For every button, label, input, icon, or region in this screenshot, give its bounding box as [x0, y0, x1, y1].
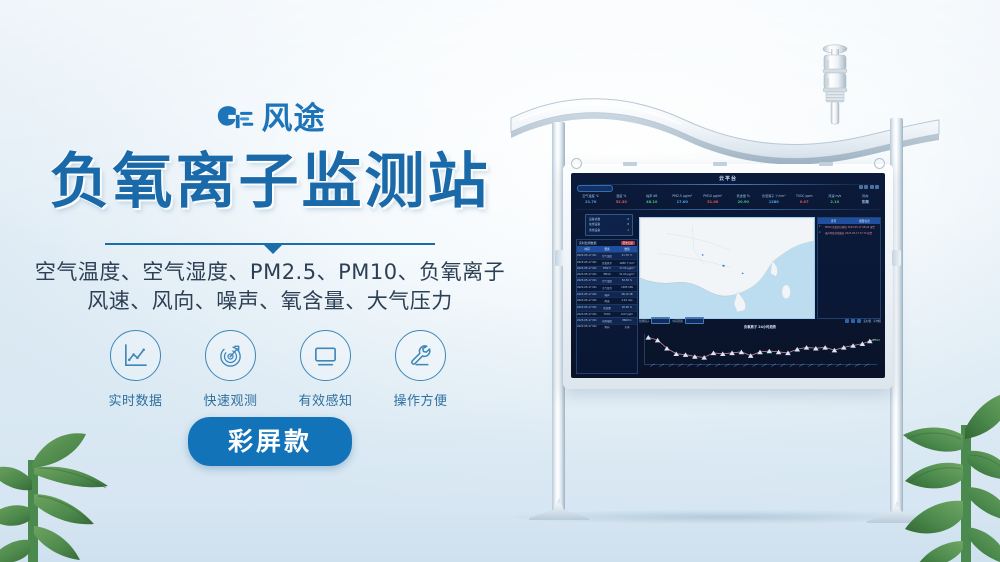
feature-label: 快速观测 [200, 390, 262, 409]
alarm-row[interactable]: 2 噪声等级持续偏高 2023-05-17 07:15 报警 [818, 230, 880, 236]
cell-value: 东南 [617, 325, 637, 331]
cell-value: 0.07 ppm [617, 312, 637, 317]
cell-factor: 大气压力 [597, 285, 617, 291]
brand-name: 风途 [262, 104, 326, 135]
cell-value: 52.30 % [617, 278, 637, 284]
alarm-message: 噪声等级持续偏高 [825, 231, 844, 235]
table-row[interactable]: 2023-05-17 09:30 负氧离子 1280 个/cm³ [577, 259, 637, 266]
cell-factor: 空气温度 [597, 253, 617, 259]
chart-refresh-button[interactable] [851, 319, 855, 323]
metric-card: 负氧离子 个/cm³ 1280 [759, 193, 789, 208]
dashboard-title: 云平台 [571, 175, 885, 182]
cell-factor: 负氧离子 [597, 260, 617, 266]
feature-item-effective-sensing[interactable]: 有效感知 [295, 330, 357, 409]
device-stats-box: 设备总数 9 在线设备 8 离线设备 1 [585, 214, 633, 236]
stat-label: 在线设备 [589, 222, 600, 226]
stat-value: 8 [627, 222, 629, 226]
cell-value: 20.90 % [617, 305, 637, 311]
stat-label: 设备总数 [589, 217, 600, 221]
chart-range-select[interactable] [685, 317, 704, 324]
bracket-icon [819, 162, 833, 166]
hero-subtitle: 空气温度、空气湿度、PM2.5、PM10、负氧离子 风速、风向、噪声、氧含量、大… [0, 258, 540, 316]
alarm-column-index: 序号 [818, 218, 849, 224]
metric-card: PM2.5 μg/m³ 17.00 [668, 193, 698, 208]
metric-card: 噪声 dB 48.10 [637, 193, 667, 208]
dashboard-icon [875, 185, 879, 189]
trend-chart-panel: 监测因子 时间范围 实时值 平均值 负氧离子 24小时趋势 [639, 317, 881, 375]
cell-factor: 光照强度 [597, 318, 617, 324]
metric-card: 空气温度 ℃ 21.70 [576, 193, 606, 208]
metrics-rule [576, 209, 880, 210]
metric-value: 52.30 [607, 199, 637, 205]
metric-card: 风速 m/s 2.10 [820, 193, 850, 208]
stat-value: 9 [627, 217, 629, 221]
table-row[interactable]: 2023-05-17 09:27 空气湿度 52.30 % [577, 277, 637, 284]
dashboard: 云平台 空气温度 ℃ 21.70 [571, 173, 885, 378]
cell-time: 2023-05-17 09:31 [577, 253, 597, 259]
radar-observation-icon [217, 342, 244, 369]
realtime-data-table[interactable]: 实时监测数据 历史记录 时间 要素 数值 2023-05-17 09:31 空气… [576, 239, 638, 374]
chart-export-button[interactable] [845, 319, 849, 323]
cell-value: 17.00 μg/m³ [617, 267, 637, 272]
metric-value: 17.00 [668, 199, 698, 205]
brand-logo: 风途 [0, 103, 540, 135]
chart-legend-item: 平均值 [873, 319, 881, 323]
cell-time: 2023-05-17 09:30 [577, 260, 597, 266]
table-row[interactable]: 2023-05-17 09:22 TVOC 0.07 ppm [577, 311, 637, 317]
alarm-header: 序号 报警信息 [818, 218, 880, 224]
metric-value: 20.90 [729, 199, 759, 205]
bracket-icon [623, 162, 637, 166]
divider-triangle-icon [264, 245, 282, 254]
cell-value: 1005 hPa [617, 285, 637, 291]
table-row[interactable]: 2023-05-17 09:23 氧含量 20.90 % [577, 304, 637, 311]
monitor-screen-icon [312, 342, 339, 369]
mount-ring-icon [874, 158, 885, 169]
cell-factor: 氧含量 [597, 305, 617, 311]
display-cabinet: 云平台 空气温度 ℃ 21.70 [563, 164, 893, 389]
chart-legend-item: 实时值 [863, 319, 871, 323]
cell-factor: PM2.5 [597, 267, 617, 272]
table-row[interactable]: 2023-05-17 09:20 风向 东南 [577, 324, 637, 331]
stat-value: 1 [627, 228, 629, 232]
alarm-index: 2 [819, 231, 824, 235]
metric-value: 1280 [759, 199, 789, 205]
foliage-left [0, 368, 152, 562]
feature-icon-circle [395, 330, 446, 381]
page-title: 负氧离子监测站 [0, 152, 540, 212]
metric-value: 48.10 [637, 199, 667, 205]
subtitle-line-2: 风速、风向、噪声、氧含量、大气压力 [0, 287, 540, 316]
history-badge[interactable]: 历史记录 [621, 241, 635, 245]
cell-time: 2023-05-17 09:23 [577, 305, 597, 311]
chart-toolbar: 监测因子 时间范围 实时值 平均值 [639, 317, 881, 324]
table-column-headers: 时间 要素 数值 [577, 246, 637, 252]
metric-card: 湿度 % 52.30 [607, 193, 637, 208]
cell-factor: 风向 [597, 325, 617, 331]
chart-plot: 1280 [639, 330, 881, 372]
alarm-time: 2023-05-17 08:42 报警 [848, 225, 875, 229]
alarm-index: 1 [819, 225, 824, 229]
stat-row: 离线设备 1 [586, 226, 632, 232]
led-display-screen[interactable]: 云平台 空气温度 ℃ 21.70 [571, 173, 885, 378]
feature-icon-circle [205, 330, 256, 381]
cell-time: 2023-05-17 09:24 [577, 298, 597, 304]
dashboard-icon [864, 185, 868, 189]
table-heading: 实时监测数据 [579, 241, 596, 245]
promo-banner: 风途 负氧离子监测站 空气温度、空气湿度、PM2.5、PM10、负氧离子 风速、… [0, 0, 1000, 562]
title-divider [0, 238, 540, 252]
dashboard-top-rule [575, 184, 881, 185]
cell-time: 2023-05-17 09:20 [577, 325, 597, 331]
table-row[interactable]: 2023-05-17 09:26 大气压力 1005 hPa [577, 284, 637, 291]
cell-value: 2.10 m/s [617, 298, 637, 304]
base-plate-icon [529, 498, 589, 520]
cell-time: 2023-05-17 09:26 [577, 285, 597, 291]
side-mount-icon [555, 250, 564, 266]
stat-label: 离线设备 [589, 228, 600, 232]
feature-label: 操作方便 [390, 390, 452, 409]
feature-item-fast-observation[interactable]: 快速观测 [200, 330, 262, 409]
feature-item-easy-operation[interactable]: 操作方便 [390, 330, 452, 409]
table-row[interactable]: 2023-05-17 09:28 PM10 31.00 μg/m³ [577, 271, 637, 277]
cell-factor: 风速 [597, 298, 617, 304]
metric-card: 风向 东南 [851, 193, 881, 208]
cell-factor: PM10 [597, 272, 617, 277]
alarm-message: PM10 浓度超过阈值 [825, 225, 847, 229]
subtitle-line-1: 空气温度、空气湿度、PM2.5、PM10、负氧离子 [0, 258, 540, 287]
metric-card: 氧含量 % 20.90 [729, 193, 759, 208]
cell-value: 21.70 ℃ [617, 253, 637, 259]
metric-value: 东南 [851, 199, 881, 205]
cell-factor: TVOC [597, 312, 617, 317]
cell-time: 2023-05-17 09:27 [577, 278, 597, 284]
cell-factor: 空气湿度 [597, 278, 617, 284]
chart-fullscreen-button[interactable] [857, 319, 861, 323]
color-screen-model-button[interactable]: 彩屏款 [188, 417, 352, 466]
table-row[interactable]: 2023-05-17 09:25 噪声 48.10 dB [577, 291, 637, 298]
cell-time: 2023-05-17 09:25 [577, 292, 597, 298]
table-row[interactable]: 2023-05-17 09:24 风速 2.10 m/s [577, 297, 637, 304]
chart-select-left-label: 监测因子 [639, 319, 649, 323]
column-header: 时间 [577, 246, 597, 252]
china-station-map[interactable] [639, 217, 815, 319]
mount-ring-icon [571, 158, 582, 169]
feature-icon-circle [300, 330, 351, 381]
metric-card: PM10 μg/m³ 31.00 [698, 193, 728, 208]
metric-value: 21.70 [576, 199, 606, 205]
chart-select-right-label: 时间范围 [672, 319, 682, 323]
cell-value: 31.00 μg/m³ [617, 272, 637, 277]
ultrasonic-weather-sensor-icon [818, 40, 852, 128]
bracket-icon [713, 162, 727, 166]
dashboard-icon [859, 185, 863, 189]
wrench-icon [407, 342, 434, 369]
metric-value: 2.10 [820, 199, 850, 205]
column-header: 数值 [617, 246, 637, 252]
station-pill[interactable] [577, 185, 613, 192]
cell-value: 8600 lx [617, 318, 637, 324]
cell-time: 2023-05-17 09:29 [577, 267, 597, 272]
side-mount-icon [892, 250, 901, 266]
table-row[interactable]: 2023-05-17 09:21 光照强度 8600 lx [577, 317, 637, 324]
metric-card: TVOC ppm 0.07 [790, 193, 820, 208]
dashboard-icon [870, 185, 874, 189]
alarm-panel[interactable]: 序号 报警信息 1 PM10 浓度超过阈值 2023-05-17 08:42 报… [817, 217, 881, 319]
cell-time: 2023-05-17 09:22 [577, 312, 597, 317]
table-row[interactable]: 2023-05-17 09:29 PM2.5 17.00 μg/m³ [577, 266, 637, 272]
alarm-column-message: 报警信息 [849, 218, 880, 224]
metric-value: 0.07 [790, 199, 820, 205]
cell-value: 1280 个/cm³ [617, 260, 637, 266]
metric-cards: 空气温度 ℃ 21.70 湿度 % 52.30 噪声 dB 48.10 PM [576, 193, 880, 208]
wind-g-logo-icon [215, 103, 255, 135]
alarm-time: 2023-05-17 07:15 报警 [845, 231, 872, 235]
feature-label: 有效感知 [295, 390, 357, 409]
cell-time: 2023-05-17 09:21 [577, 318, 597, 324]
metric-value: 31.00 [698, 199, 728, 205]
chart-factor-select[interactable] [651, 317, 670, 324]
foliage-right [849, 355, 1000, 562]
cell-time: 2023-05-17 09:28 [577, 272, 597, 277]
cell-factor: 噪声 [597, 292, 617, 298]
column-header: 要素 [597, 246, 617, 252]
line-chart-icon [122, 342, 149, 369]
cell-value: 48.10 dB [617, 292, 637, 298]
table-row[interactable]: 2023-05-17 09:31 空气温度 21.70 ℃ [577, 252, 637, 259]
chart-readout: 1280 [872, 338, 880, 342]
dashboard-icon-cluster[interactable] [859, 185, 880, 189]
